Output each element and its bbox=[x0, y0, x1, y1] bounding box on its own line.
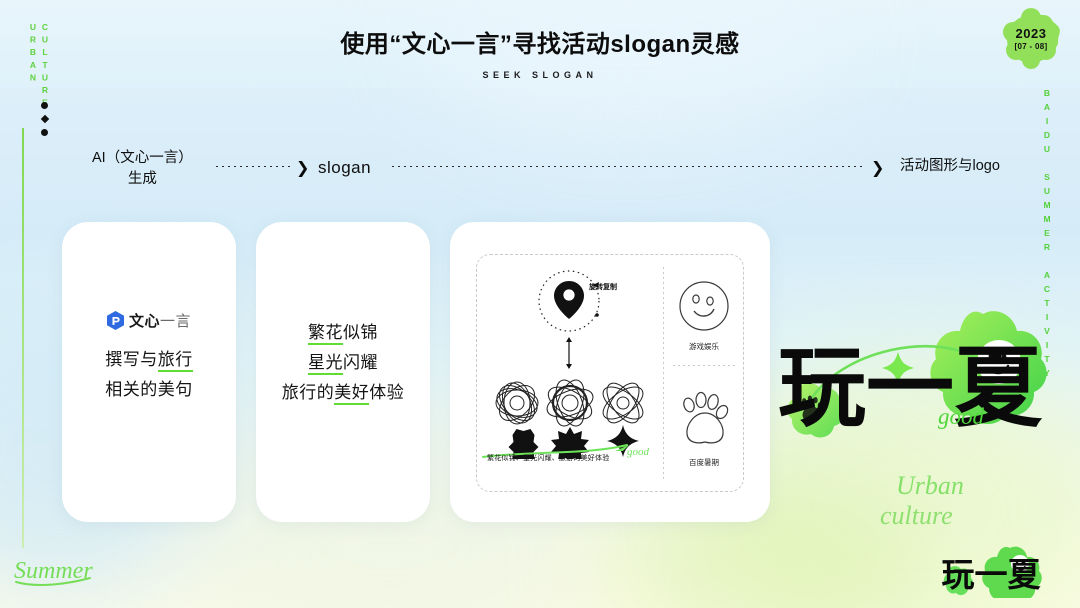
diamond-icon bbox=[40, 115, 48, 123]
section-label-baidu-summer: 百度暑期 bbox=[667, 457, 741, 468]
dot-icon bbox=[41, 129, 48, 136]
graphic-inner-panel: good 旋转复制 繁花似锦、星光闪耀、旅游的美好体验 游戏娱乐 bbox=[476, 254, 744, 492]
slide-canvas: URBAN CULTURE BAIDU SUMMER ACTIVITY 2023… bbox=[0, 0, 1080, 608]
graphic-construction-diagram: good bbox=[477, 259, 663, 459]
page-title: 使用“文心一言”寻找活动slogan灵感 bbox=[0, 24, 1080, 59]
chevron-right-icon: ❯ bbox=[871, 158, 884, 178]
wenxin-yiyan-logo: 文心一言 bbox=[62, 310, 236, 331]
flow-step-slogan: slogan bbox=[318, 156, 371, 181]
result-line: 旅行的美好体验 bbox=[256, 378, 430, 408]
flow-connector bbox=[216, 166, 290, 167]
prompt-card: 文心一言 撰写与旅行 相关的美句 bbox=[62, 222, 236, 522]
flow-diagram: AI（文心一言） 生成 ❯ slogan ❯ 活动图形与logo bbox=[0, 150, 1080, 194]
section-label-games: 游戏娱乐 bbox=[667, 341, 741, 352]
graphic-process-card: good 旋转复制 繁花似锦、星光闪耀、旅游的美好体验 游戏娱乐 bbox=[450, 222, 770, 522]
flow-connector bbox=[392, 166, 865, 167]
main-logo-script: good bbox=[938, 404, 985, 429]
graphic-caption: 繁花似锦、星光闪耀、旅游的美好体验 bbox=[487, 453, 655, 463]
result-card-body: 繁花似锦 星光闪耀 旅行的美好体验 bbox=[256, 318, 430, 407]
prompt-line: 相关的美句 bbox=[62, 375, 236, 405]
header: 使用“文心一言”寻找活动slogan灵感 SEEK SLOGAN bbox=[0, 24, 1080, 80]
page-subtitle: SEEK SLOGAN bbox=[0, 70, 1080, 80]
prompt-line: 撰写与旅行 bbox=[62, 345, 236, 375]
main-logo-text: 玩一夏 bbox=[778, 338, 1043, 437]
urban-culture-script: Urban culture bbox=[874, 466, 1054, 536]
result-card: 繁花似锦 星光闪耀 旅行的美好体验 bbox=[256, 222, 430, 522]
rotate-copy-label: 旋转复制 bbox=[589, 282, 617, 292]
left-rail: URBAN CULTURE bbox=[22, 14, 62, 594]
panel-divider-vertical bbox=[663, 267, 664, 481]
footer-script: Urban culture bbox=[874, 466, 1054, 536]
prompt-card-body: 文心一言 撰写与旅行 相关的美句 bbox=[62, 310, 236, 405]
footer-script-urban: Urban bbox=[896, 471, 964, 500]
main-logo-artwork: 玩一夏 good bbox=[770, 300, 1060, 450]
result-line: 星光闪耀 bbox=[256, 348, 430, 378]
panel-divider-horizontal bbox=[673, 365, 735, 366]
flow-step-ai: AI（文心一言） 生成 bbox=[92, 148, 193, 190]
chevron-right-icon: ❯ bbox=[296, 158, 309, 178]
footer-script-culture: culture bbox=[880, 501, 953, 530]
flow-step-ai-line2: 生成 bbox=[92, 169, 193, 190]
rail-dots bbox=[41, 102, 48, 136]
summer-signature: Summer bbox=[8, 548, 108, 594]
wenxin-logo-text: 文心一言 bbox=[129, 310, 191, 331]
footer-small-logo: 玩一夏 bbox=[936, 542, 1046, 598]
result-line: 繁花似锦 bbox=[256, 318, 430, 348]
footer-small-logo-artwork: 玩一夏 bbox=[936, 542, 1046, 598]
wenxin-hexagon-icon bbox=[107, 311, 124, 330]
flow-step-logo: 活动图形与logo bbox=[900, 156, 1000, 177]
flow-step-ai-line1: AI（文心一言） bbox=[92, 148, 193, 169]
footer-small-logo-text: 玩一夏 bbox=[942, 556, 1042, 593]
summer-signature-script: Summer bbox=[8, 548, 108, 594]
dot-icon bbox=[41, 102, 48, 109]
smiley-icon bbox=[674, 277, 734, 335]
paw-icon bbox=[674, 389, 734, 451]
main-logo: 玩一夏 good bbox=[770, 300, 1060, 450]
